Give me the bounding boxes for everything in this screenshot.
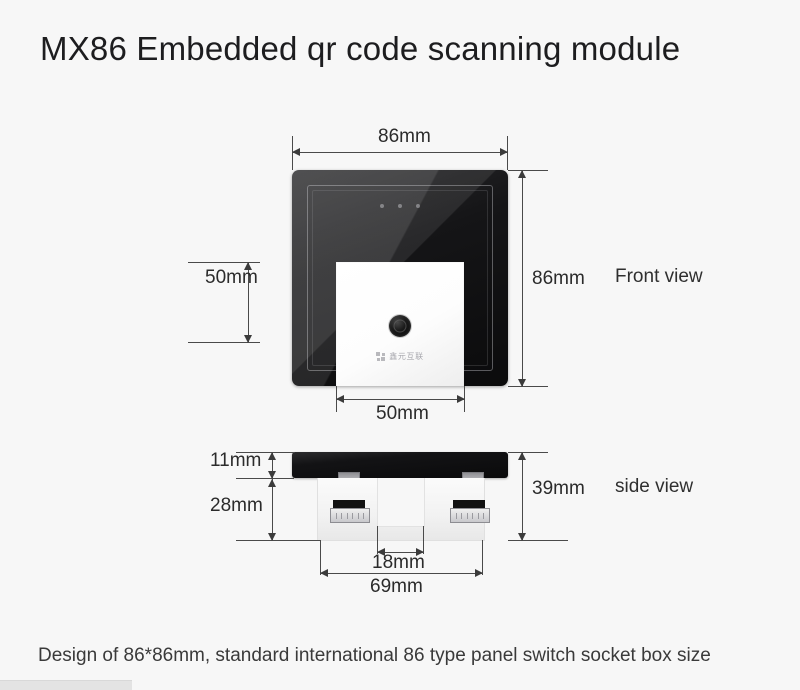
side-view-label: side view: [615, 476, 693, 498]
side-thickness-arrow-down: [268, 471, 276, 479]
front-height-dim-line: [522, 170, 523, 387]
led-dot: [398, 204, 402, 208]
dim-front-window-width: 50mm: [376, 403, 429, 425]
side-depth-ext-bottom: [236, 540, 320, 541]
connector-body: [330, 508, 370, 523]
front-winw-arrow-left: [336, 395, 344, 403]
front-width-arrow-right: [500, 148, 508, 156]
camera-lens-icon: [389, 315, 411, 337]
front-height-ext-bottom: [508, 386, 548, 387]
side-total-ext-top: [508, 452, 548, 453]
logo-mark-icon: [376, 352, 385, 361]
brand-name: 鑫元互联: [389, 351, 423, 362]
front-panel: 鑫元互联: [292, 170, 508, 386]
side-depth-arrow-up: [268, 479, 276, 487]
side-total-dim-line: [522, 452, 523, 541]
front-height-arrow-down: [518, 379, 526, 387]
side-width-arrow-left: [320, 569, 328, 577]
side-depth-arrow-down: [268, 533, 276, 541]
diagram-canvas: MX86 Embedded qr code scanning module 86…: [0, 0, 800, 689]
side-center-notch: [377, 478, 425, 527]
front-width-dim-line: [292, 152, 508, 153]
led-dot: [416, 204, 420, 208]
dim-side-total-depth: 39mm: [532, 478, 585, 500]
ribbon-connector: [450, 500, 488, 524]
brand-logo: 鑫元互联: [292, 351, 508, 362]
side-width-dim-line: [320, 573, 483, 574]
dim-side-body-depth: 28mm: [210, 495, 263, 517]
page-title: MX86 Embedded qr code scanning module: [40, 30, 680, 68]
dim-front-window-height: 50mm: [205, 267, 258, 289]
side-thickness-arrow-up: [268, 452, 276, 460]
page-caption: Design of 86*86mm, standard internationa…: [38, 645, 711, 667]
side-thickness-ext-bottom: [236, 478, 294, 479]
led-dot: [380, 204, 384, 208]
side-total-arrow-down: [518, 533, 526, 541]
front-winw-dim-line: [336, 399, 465, 400]
dim-side-inner-gap: 18mm: [372, 552, 425, 574]
dim-side-total-width: 69mm: [370, 576, 423, 598]
led-indicator-group: [292, 204, 508, 208]
dim-front-height: 86mm: [532, 268, 585, 290]
front-width-arrow-left: [292, 148, 300, 156]
front-winh-arrow-down: [244, 335, 252, 343]
side-width-arrow-right: [475, 569, 483, 577]
scan-window: [336, 262, 464, 386]
front-view-label: Front view: [615, 266, 703, 288]
front-height-ext-top: [508, 170, 548, 171]
side-total-ext-bottom: [508, 540, 568, 541]
connector-body: [450, 508, 490, 523]
front-height-arrow-up: [518, 170, 526, 178]
side-depth-dim-line: [272, 479, 273, 541]
dim-side-thickness: 11mm: [210, 450, 261, 472]
front-winw-arrow-right: [457, 395, 465, 403]
dim-front-width: 86mm: [378, 126, 431, 148]
side-total-arrow-up: [518, 452, 526, 460]
ribbon-connector: [330, 500, 368, 524]
